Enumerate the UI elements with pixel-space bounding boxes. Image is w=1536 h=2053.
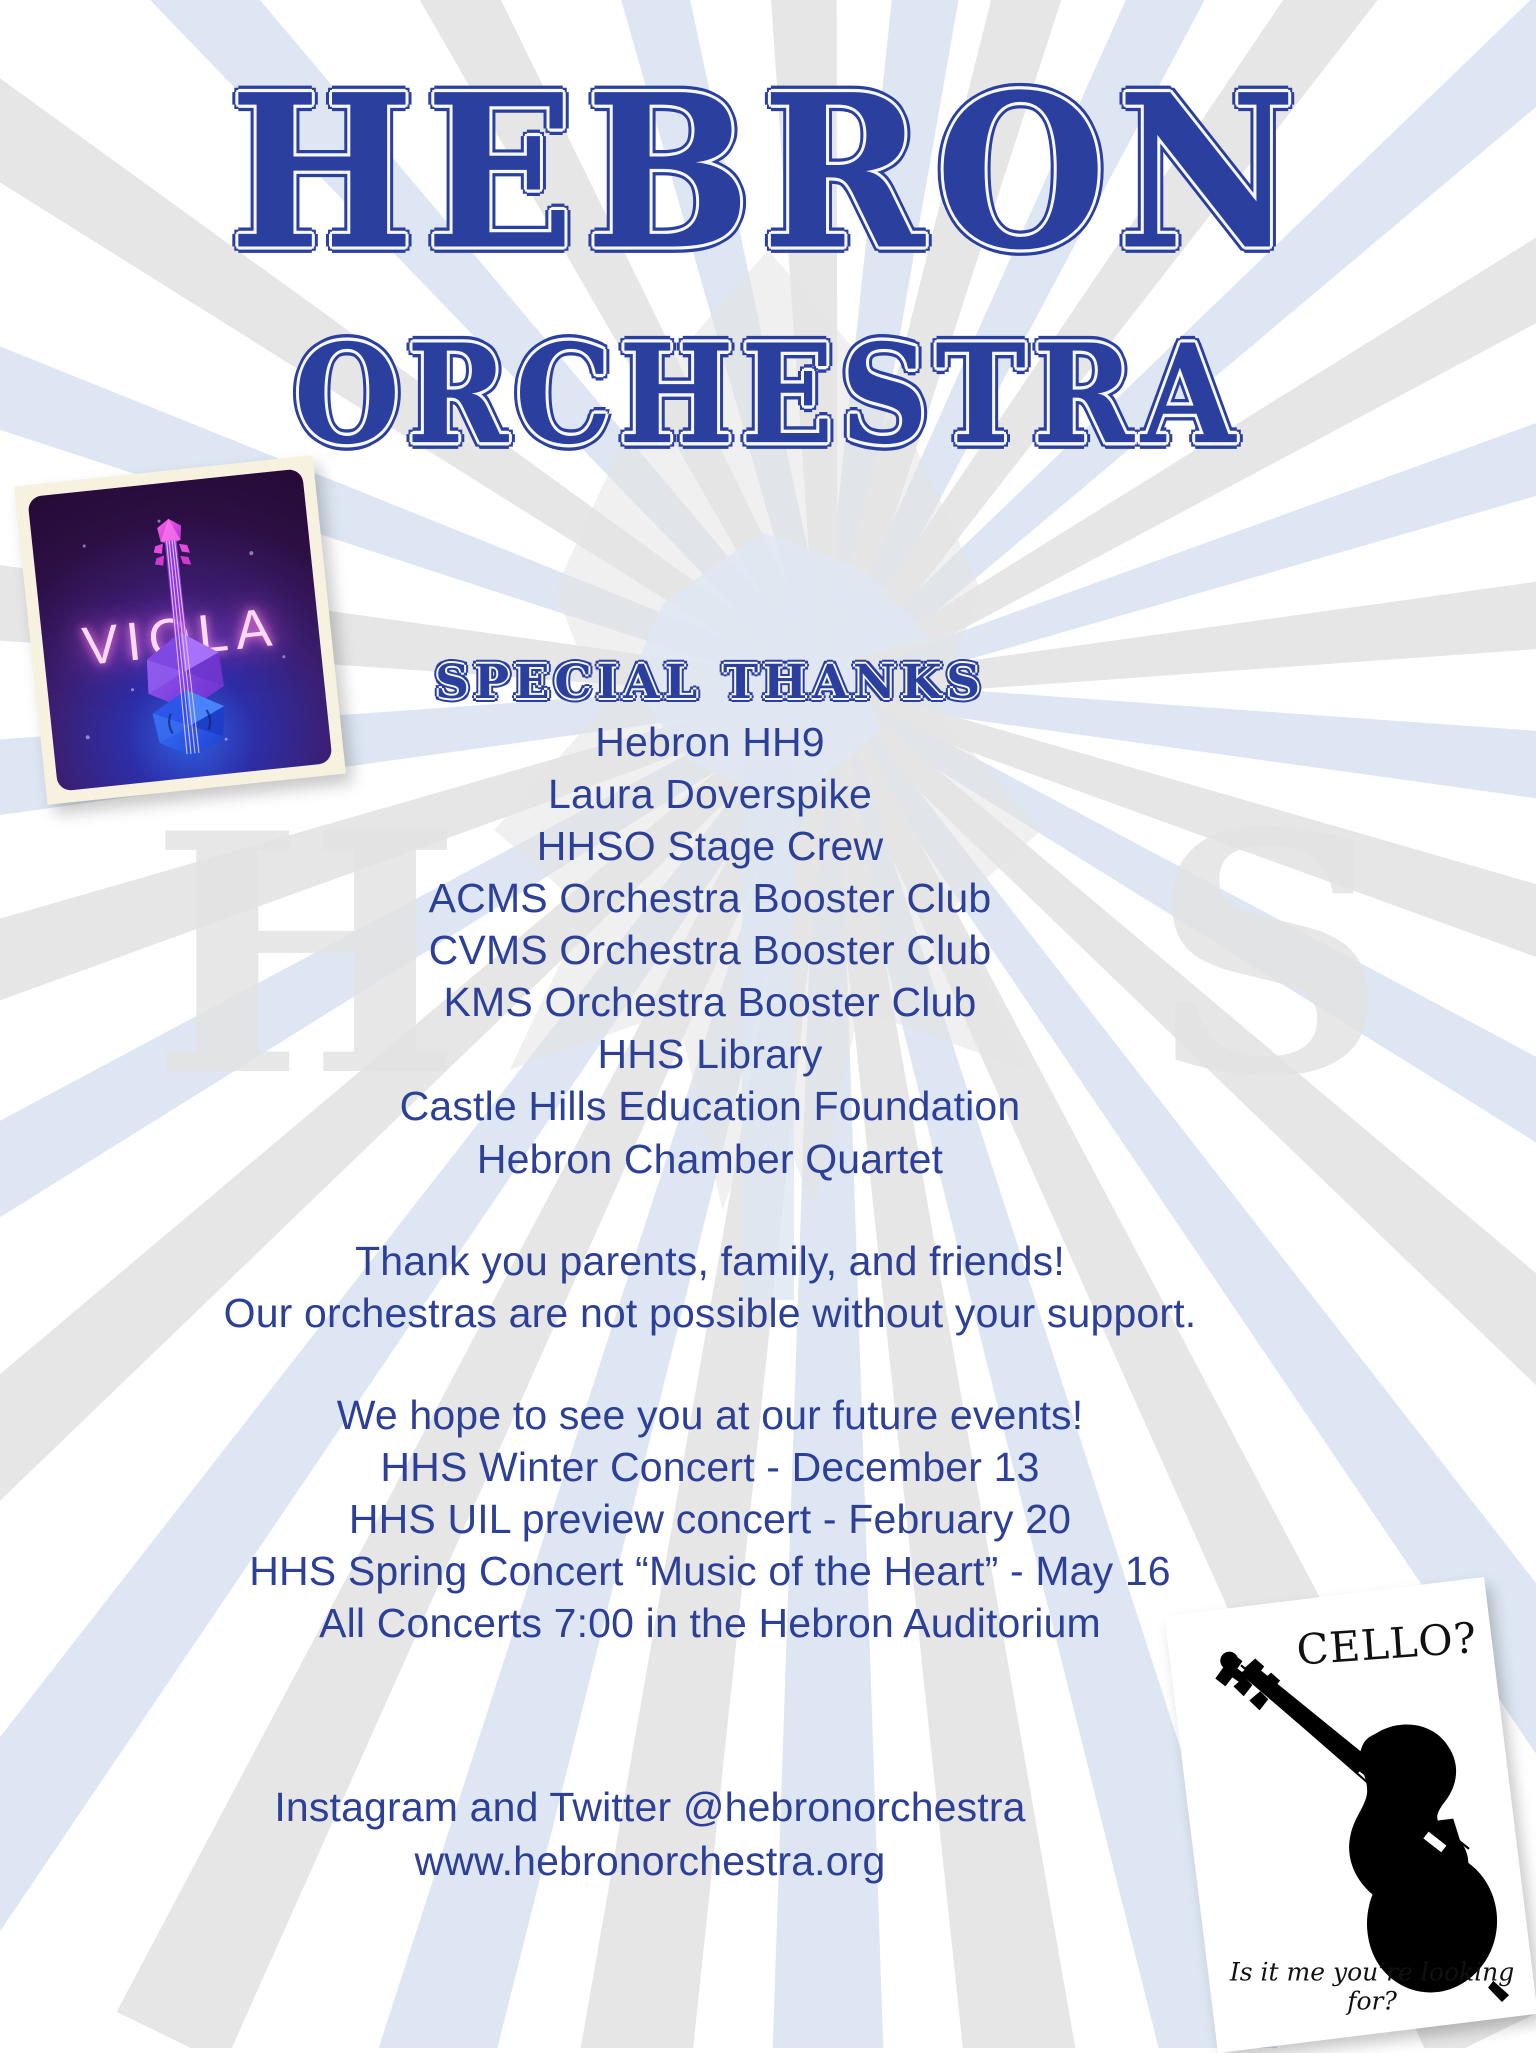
page-title-line1: HEBRON: [0, 49, 1536, 297]
star-speck-icon: [249, 551, 253, 555]
list-item: HHSO Stage Crew: [150, 820, 1270, 872]
star-speck-icon: [86, 735, 90, 739]
event-item: HHS Spring Concert “Music of the Heart” …: [150, 1545, 1270, 1597]
list-item: Castle Hills Education Foundation: [150, 1080, 1270, 1132]
list-item: Hebron Chamber Quartet: [150, 1133, 1270, 1185]
social-handles[interactable]: Instagram and Twitter @hebronorchestra: [150, 1780, 1150, 1834]
list-item: CVMS Orchestra Booster Club: [150, 924, 1270, 976]
cello-meme-card: CELLO?: [1164, 1577, 1536, 2053]
poster-body-content: SPECIAL THANKS Hebron HH9 Laura Doverspi…: [150, 655, 1270, 1649]
list-item: ACMS Orchestra Booster Club: [150, 872, 1270, 924]
list-item: Hebron HH9: [150, 716, 1270, 768]
special-thanks-heading: SPECIAL THANKS: [150, 655, 1270, 710]
events-intro: We hope to see you at our future events!: [150, 1389, 1270, 1441]
website-url[interactable]: www.hebronorchestra.org: [150, 1834, 1150, 1888]
list-item: Laura Doverspike: [150, 768, 1270, 820]
spacer: [150, 1339, 1270, 1385]
poster-headline: HEBRON ORCHESTRA: [0, 58, 1536, 466]
upcoming-events-block: We hope to see you at our future events!…: [150, 1389, 1270, 1649]
event-item: HHS Winter Concert - December 13: [150, 1441, 1270, 1493]
support-message-block: Thank you parents, family, and friends! …: [150, 1235, 1270, 1339]
support-line: Thank you parents, family, and friends!: [150, 1235, 1270, 1287]
special-thanks-list: Hebron HH9 Laura Doverspike HHSO Stage C…: [150, 716, 1270, 1185]
events-footer-note: All Concerts 7:00 in the Hebron Auditori…: [150, 1597, 1270, 1649]
star-speck-icon: [82, 545, 85, 548]
spacer: [150, 1185, 1270, 1231]
social-footer: Instagram and Twitter @hebronorchestra w…: [150, 1780, 1150, 1888]
page-title-line2: ORCHESTRA: [0, 313, 1536, 474]
event-item: HHS UIL preview concert - February 20: [150, 1493, 1270, 1545]
list-item: KMS Orchestra Booster Club: [150, 976, 1270, 1028]
list-item: HHS Library: [150, 1028, 1270, 1080]
support-line: Our orchestras are not possible without …: [150, 1287, 1270, 1339]
cello-card-caption: Is it me you’re looking for?: [1221, 1958, 1523, 2016]
